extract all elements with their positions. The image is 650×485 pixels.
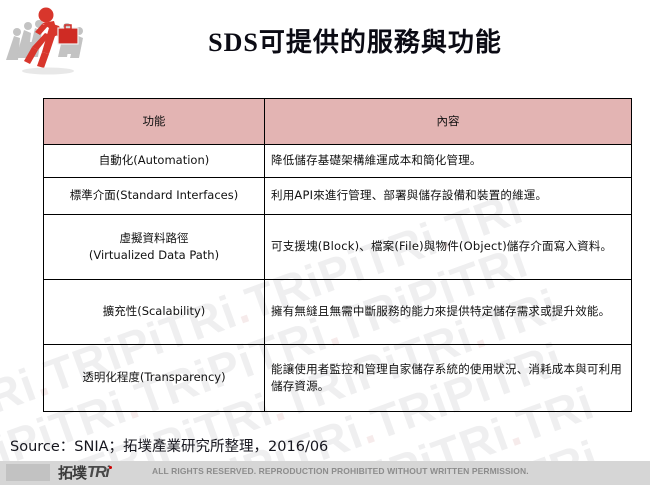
slide-canvas: PiTRi.TRiPiTRi.TRiPiTRi.TRi TRiPiTRi.TRi… [0,0,650,485]
running-businessman-icon [4,2,92,76]
source-note: Source：SNIA；拓墣產業研究所整理，2016/06 [10,435,328,456]
column-header-content: 內容 [265,99,632,145]
cell-content: 可支援塊(Block)、檔案(File)與物件(Object)儲存介面寫入資料。 [265,215,632,280]
cell-content: 能讓使用者監控和管理自家儲存系統的使用狀況、消耗成本與可利用儲存資源。 [265,345,632,412]
table-row: 透明化程度(Transparency) 能讓使用者監控和管理自家儲存系統的使用狀… [44,345,632,412]
cell-content: 利用API來進行管理、部署與儲存設備和裝置的維運。 [265,178,632,215]
tri-logo-cjk: 拓墣 [58,462,86,483]
copyright-notice: ALL RIGHTS RESERVED. REPRODUCTION PROHIB… [152,466,529,476]
cell-function: 虛擬資料路徑 (Virtualized Data Path) [44,215,265,280]
column-header-function: 功能 [44,99,265,145]
cell-content: 降低儲存基礎架構維運成本和簡化管理。 [265,145,632,178]
cell-function: 自動化(Automation) [44,145,265,178]
cell-content: 擁有無縫且無需中斷服務的能力來提供特定儲存需求或提升效能。 [265,280,632,345]
tri-logo-dot [109,466,112,469]
cell-function-line1: 虛擬資料路徑 [120,231,189,245]
page-title: SDS可提供的服務與功能 [120,22,590,59]
table-row: 虛擬資料路徑 (Virtualized Data Path) 可支援塊(Bloc… [44,215,632,280]
table-row: 擴充性(Scalability) 擁有無縫且無需中斷服務的能力來提供特定儲存需求… [44,280,632,345]
cell-function: 透明化程度(Transparency) [44,345,265,412]
table-row: 標準介面(Standard Interfaces) 利用API來進行管理、部署與… [44,178,632,215]
cell-function: 標準介面(Standard Interfaces) [44,178,265,215]
cell-function: 擴充性(Scalability) [44,280,265,345]
table-row: 自動化(Automation) 降低儲存基礎架構維運成本和簡化管理。 [44,145,632,178]
cell-function-line2: (Virtualized Data Path) [50,247,258,264]
tri-logo: 拓墣 TRi [58,462,112,483]
tri-logo-latin: TRi [87,464,108,482]
table-header-row: 功能 內容 [44,99,632,145]
features-table: 功能 內容 自動化(Automation) 降低儲存基礎架構維運成本和簡化管理。… [43,98,632,412]
footer-swatch [6,464,50,481]
